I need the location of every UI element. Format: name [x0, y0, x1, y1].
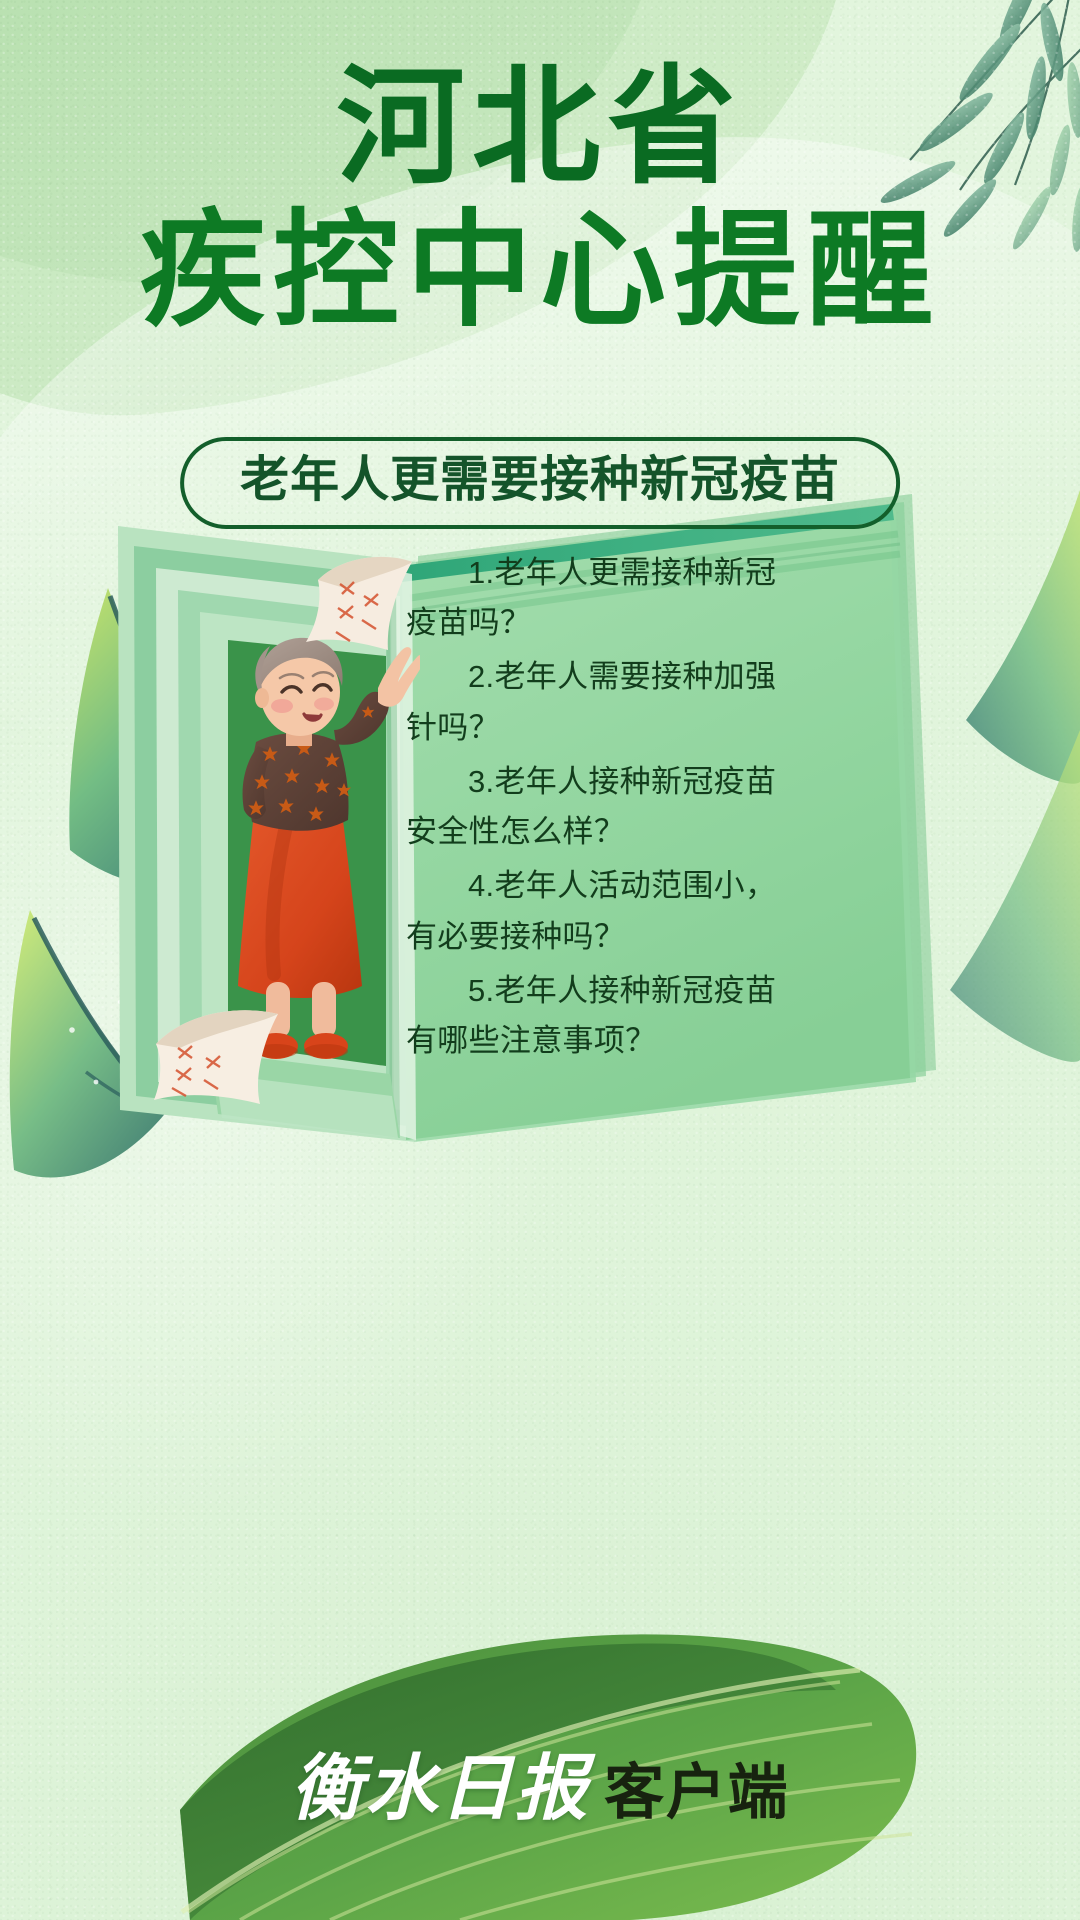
page-title-line1: 河北省	[0, 58, 1080, 199]
poster-canvas: 河北省 疾控中心提醒 老年人更需要接种新冠疫苗	[0, 0, 1080, 1920]
brand-name: 衡水日报	[291, 1749, 591, 1829]
question-item-2: 2.老年人需要接种加强针吗？	[406, 652, 784, 752]
flying-paper-top-icon	[300, 550, 420, 660]
subtitle-pill: 老年人更需要接种新冠疫苗	[180, 437, 900, 529]
question-item-4: 4.老年人活动范围小，有必要接种吗？	[406, 861, 784, 961]
brand-suffix: 客户端	[604, 1759, 789, 1826]
question-item-5: 5.老年人接种新冠疫苗有哪些注意事项？	[406, 966, 784, 1066]
brand-lockup: 衡水日报客户端	[0, 1729, 1080, 1834]
page-title-line2: 疾控中心提醒	[0, 205, 1080, 341]
flying-paper-bottom-icon	[150, 1000, 285, 1110]
question-item-1: 1.老年人更需接种新冠疫苗吗？	[406, 548, 784, 648]
poster-heading: 河北省 疾控中心提醒	[0, 58, 1080, 341]
question-list: 1.老年人更需接种新冠疫苗吗？ 2.老年人需要接种加强针吗？ 3.老年人接种新冠…	[406, 548, 784, 1070]
question-item-3: 3.老年人接种新冠疫苗安全性怎么样？	[406, 757, 784, 857]
